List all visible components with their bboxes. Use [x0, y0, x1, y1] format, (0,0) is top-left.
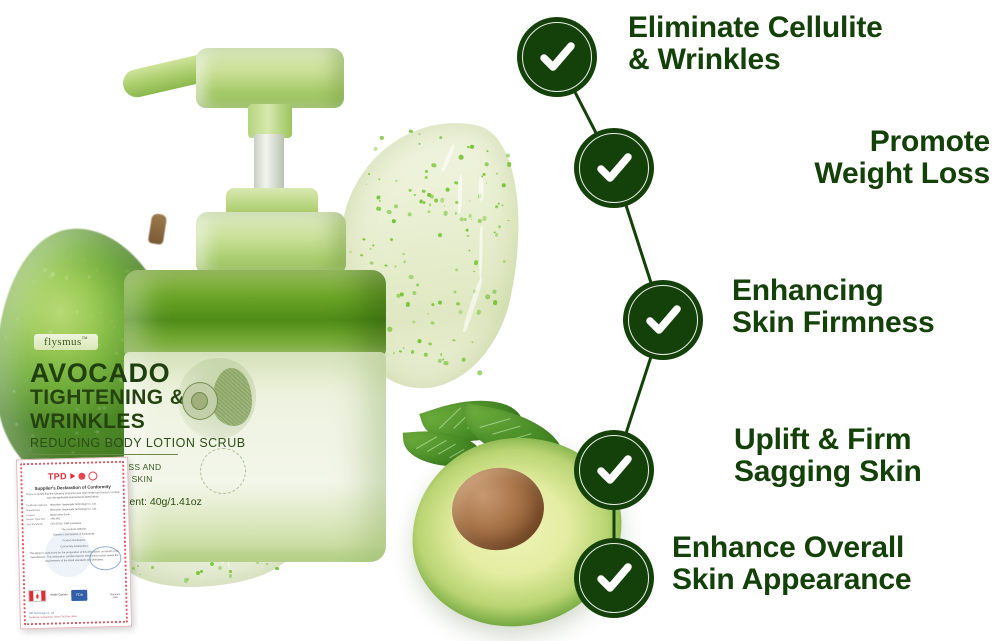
scrub-bead [443, 360, 448, 365]
avocado-texture-speck [112, 288, 114, 290]
scrub-bead [389, 238, 393, 242]
scrub-bead [425, 170, 428, 173]
check-icon [534, 34, 580, 80]
scrub-bead [464, 217, 468, 221]
scrub-bead [454, 212, 457, 215]
avocado-texture-speck [100, 312, 101, 313]
avocado-texture-speck [59, 266, 60, 267]
avocado-texture-speck [84, 259, 86, 261]
scrub-bead [469, 249, 471, 251]
scrub-bead [458, 310, 463, 315]
scrub-bead [427, 313, 429, 315]
scrub-bead [229, 570, 232, 573]
scrub-bead [416, 283, 420, 287]
scrub-bead [443, 211, 448, 216]
scrub-bead [137, 565, 139, 567]
scrub-bead [266, 563, 269, 566]
scrub-bead [218, 566, 222, 570]
scrub-bead [492, 290, 496, 294]
scrub-bead [484, 162, 489, 167]
scrub-bead [200, 570, 203, 573]
scrub-bead [468, 200, 470, 202]
pump-head [196, 48, 344, 108]
scrub-bead [452, 339, 455, 342]
avocado-texture-speck [10, 290, 13, 293]
check-badge [574, 538, 654, 618]
scrub-bead [392, 219, 397, 224]
avocado-texture-speck [90, 315, 93, 318]
scrub-bead [473, 270, 475, 272]
scrub-bead [151, 566, 154, 569]
certificate-intro: This is to certify that the following pr… [26, 491, 120, 501]
avocado-texture-speck [26, 254, 29, 257]
scrub-bead [423, 352, 428, 357]
avocado-texture-speck [10, 356, 12, 358]
scrub-bead [428, 342, 432, 346]
avocado-texture-speck [49, 276, 52, 279]
scrub-bead [461, 358, 466, 363]
scrub-bead [440, 198, 445, 203]
benefit-label: Enhancing Skin Firmness [732, 275, 994, 339]
scrub-bead [419, 133, 421, 135]
scrub-bead [477, 370, 483, 376]
scrub-bead [405, 302, 410, 307]
check-icon [640, 297, 686, 343]
maple-leaf-icon [78, 472, 85, 479]
scrub-bead [496, 172, 499, 175]
check-icon [591, 145, 637, 191]
bottle-collar-lower [196, 212, 346, 274]
leaf-vein [438, 444, 455, 455]
scrub-bead [229, 574, 233, 578]
scrub-bead [461, 370, 463, 372]
certificate-badges: Health Canada FDA [28, 589, 88, 602]
scrub-bead [446, 187, 451, 192]
scrub-bead [412, 290, 418, 296]
certificate-row-value: ISO 22716 / GMP Cosmetics [50, 521, 120, 526]
scrub-bead [418, 142, 421, 145]
scrub-bead [395, 179, 398, 182]
avocado-texture-speck [111, 320, 113, 322]
fda-badge: FDA [71, 589, 87, 600]
scrub-bead [438, 233, 443, 238]
scrub-bead [455, 268, 458, 271]
scrub-bead [444, 205, 446, 207]
scrub-bead [482, 216, 487, 221]
scrub-bead [468, 213, 473, 218]
scrub-highlight [457, 174, 462, 213]
avocado-texture-speck [97, 275, 99, 277]
avocado-texture-speck [74, 280, 75, 281]
certificate-row-key: Product [26, 513, 48, 517]
benefit-label: Enhance Overall Skin Appearance [672, 532, 996, 596]
certificate-row-key: Certificate Applicant [26, 503, 48, 507]
scrub-bead [427, 210, 431, 214]
brand-name: flysmus [44, 336, 82, 348]
scrub-bead [397, 294, 401, 298]
certificate-rows: Certificate ApplicantShenzhen Tianpengda… [26, 502, 121, 527]
scrub-bead [422, 189, 426, 193]
scrub-bead [399, 350, 402, 353]
label-title: AVOCADO [30, 358, 170, 389]
scrub-bead [487, 150, 489, 152]
label-divider [30, 454, 178, 455]
scrub-bead [440, 353, 442, 355]
canada-flag-icon [28, 590, 46, 602]
scrub-bead [407, 212, 412, 217]
leaf-vein [439, 408, 461, 429]
arrow-icon [70, 473, 75, 479]
scrub-highlight [478, 176, 483, 200]
product-scene: flysmus™ AVOCADO TIGHTENING & WRINKLES R… [0, 0, 560, 641]
scrub-bead [456, 302, 460, 306]
scrub-bead [439, 136, 442, 139]
scrub-bead [429, 194, 434, 199]
scrub-bead [393, 352, 395, 354]
scrub-bead [402, 252, 405, 255]
scrub-bead [476, 310, 481, 315]
scrub-bead [139, 574, 141, 576]
product-benefits-banner: flysmus™ AVOCADO TIGHTENING & WRINKLES R… [0, 0, 1000, 641]
avocado-texture-speck [45, 273, 46, 274]
scrub-bead [470, 145, 474, 149]
scrub-bead [417, 339, 421, 343]
scrub-bead [413, 194, 415, 196]
scrub-bead [210, 562, 214, 566]
scrub-bead [434, 198, 439, 203]
benefits-list: Eliminate Cellulite & Wrinkles Promote W… [500, 0, 1000, 641]
check-badge [517, 17, 597, 97]
scrub-bead [408, 274, 413, 279]
scrub-bead [402, 347, 404, 349]
conformity-certificate-image: TPD Supplier's Declaration of Conformity… [16, 457, 132, 630]
scrub-bead [423, 202, 426, 205]
avocado-texture-speck [10, 277, 12, 279]
benefit-label: Uplift & Firm Sagging Skin [734, 424, 994, 488]
pump-neck [248, 104, 292, 138]
avocado-texture-speck [109, 313, 110, 314]
seal-icon [88, 471, 97, 480]
scrub-bead [471, 218, 473, 220]
check-badge [574, 430, 654, 510]
scrub-bead [486, 182, 488, 184]
certificate-signature-block: Signature Date [110, 593, 120, 600]
avocado-texture-speck [16, 317, 19, 320]
scrub-bead [431, 321, 435, 325]
scrub-bead [132, 567, 136, 571]
avocado-texture-speck [70, 254, 73, 257]
scrub-bead [387, 327, 392, 332]
scrub-bead [438, 300, 443, 305]
certificate-row-key: Test Standards [27, 523, 49, 527]
certificate-row-key: Model / Type Ref. [26, 518, 48, 522]
brand-badge: flysmus™ [34, 334, 98, 350]
avocado-illustration-pit [191, 392, 208, 410]
health-canada-label: Health Canada [50, 594, 67, 598]
scrub-bead [458, 154, 463, 159]
avocado-texture-speck [43, 268, 47, 272]
scrub-bead [428, 203, 431, 206]
certificate-row-key: Manufacturer [26, 508, 48, 512]
avocado-texture-speck [26, 243, 28, 245]
label-subtitle-2: WRINKLES [30, 410, 145, 434]
scrub-bead [466, 234, 469, 237]
scrub-bead [431, 303, 434, 306]
avocado-texture-speck [36, 247, 37, 248]
avocado-texture-speck [51, 272, 55, 276]
scrub-bead [471, 341, 473, 343]
avocado-texture-speck [64, 276, 68, 280]
scrub-bead [431, 163, 436, 168]
scrub-bead [408, 188, 412, 192]
scrub-highlight [479, 226, 483, 278]
scrub-bead [412, 320, 416, 324]
tpd-logo-text: TPD [48, 471, 67, 481]
scrub-bead [492, 300, 497, 305]
pump-stem [254, 134, 284, 196]
check-badge [574, 128, 654, 208]
scrub-bead [403, 260, 406, 263]
scrub-bead [394, 204, 398, 208]
avocado-texture-speck [9, 441, 11, 443]
scrub-bead [186, 578, 189, 581]
scrub-bead [411, 350, 415, 354]
scrub-bead [473, 260, 479, 266]
avocado-texture-speck [5, 336, 8, 339]
scrub-bead [495, 233, 499, 237]
scrub-bead [409, 129, 413, 133]
scrub-bead [394, 265, 396, 267]
check-icon [591, 555, 637, 601]
scrub-highlight [440, 143, 455, 172]
scrub-bead [275, 567, 279, 571]
scrub-bead [485, 294, 491, 300]
avocado-texture-speck [76, 311, 79, 314]
scrub-highlight [462, 277, 484, 333]
avocado-texture-speck [87, 275, 90, 278]
trademark-symbol: ™ [82, 336, 88, 342]
benefit-label: Promote Weight Loss [668, 126, 990, 190]
signature-date: Date [110, 596, 120, 600]
certificate-heading: Supplier's Declaration of Conformity [26, 484, 120, 491]
avocado-texture-speck [95, 269, 99, 273]
benefit-label: Eliminate Cellulite & Wrinkles [628, 12, 990, 76]
check-icon [591, 447, 637, 493]
scrub-bead [453, 290, 457, 294]
certificate-logo: TPD [25, 470, 119, 482]
label-subtitle-1: TIGHTENING & [30, 386, 185, 410]
check-badge [623, 280, 703, 360]
avocado-texture-speck [33, 281, 35, 283]
scrub-bead [459, 217, 464, 222]
scrub-bead [495, 205, 498, 208]
scrub-bead [425, 176, 428, 179]
label-seal-icon [200, 448, 246, 494]
scrub-bead [465, 229, 468, 232]
